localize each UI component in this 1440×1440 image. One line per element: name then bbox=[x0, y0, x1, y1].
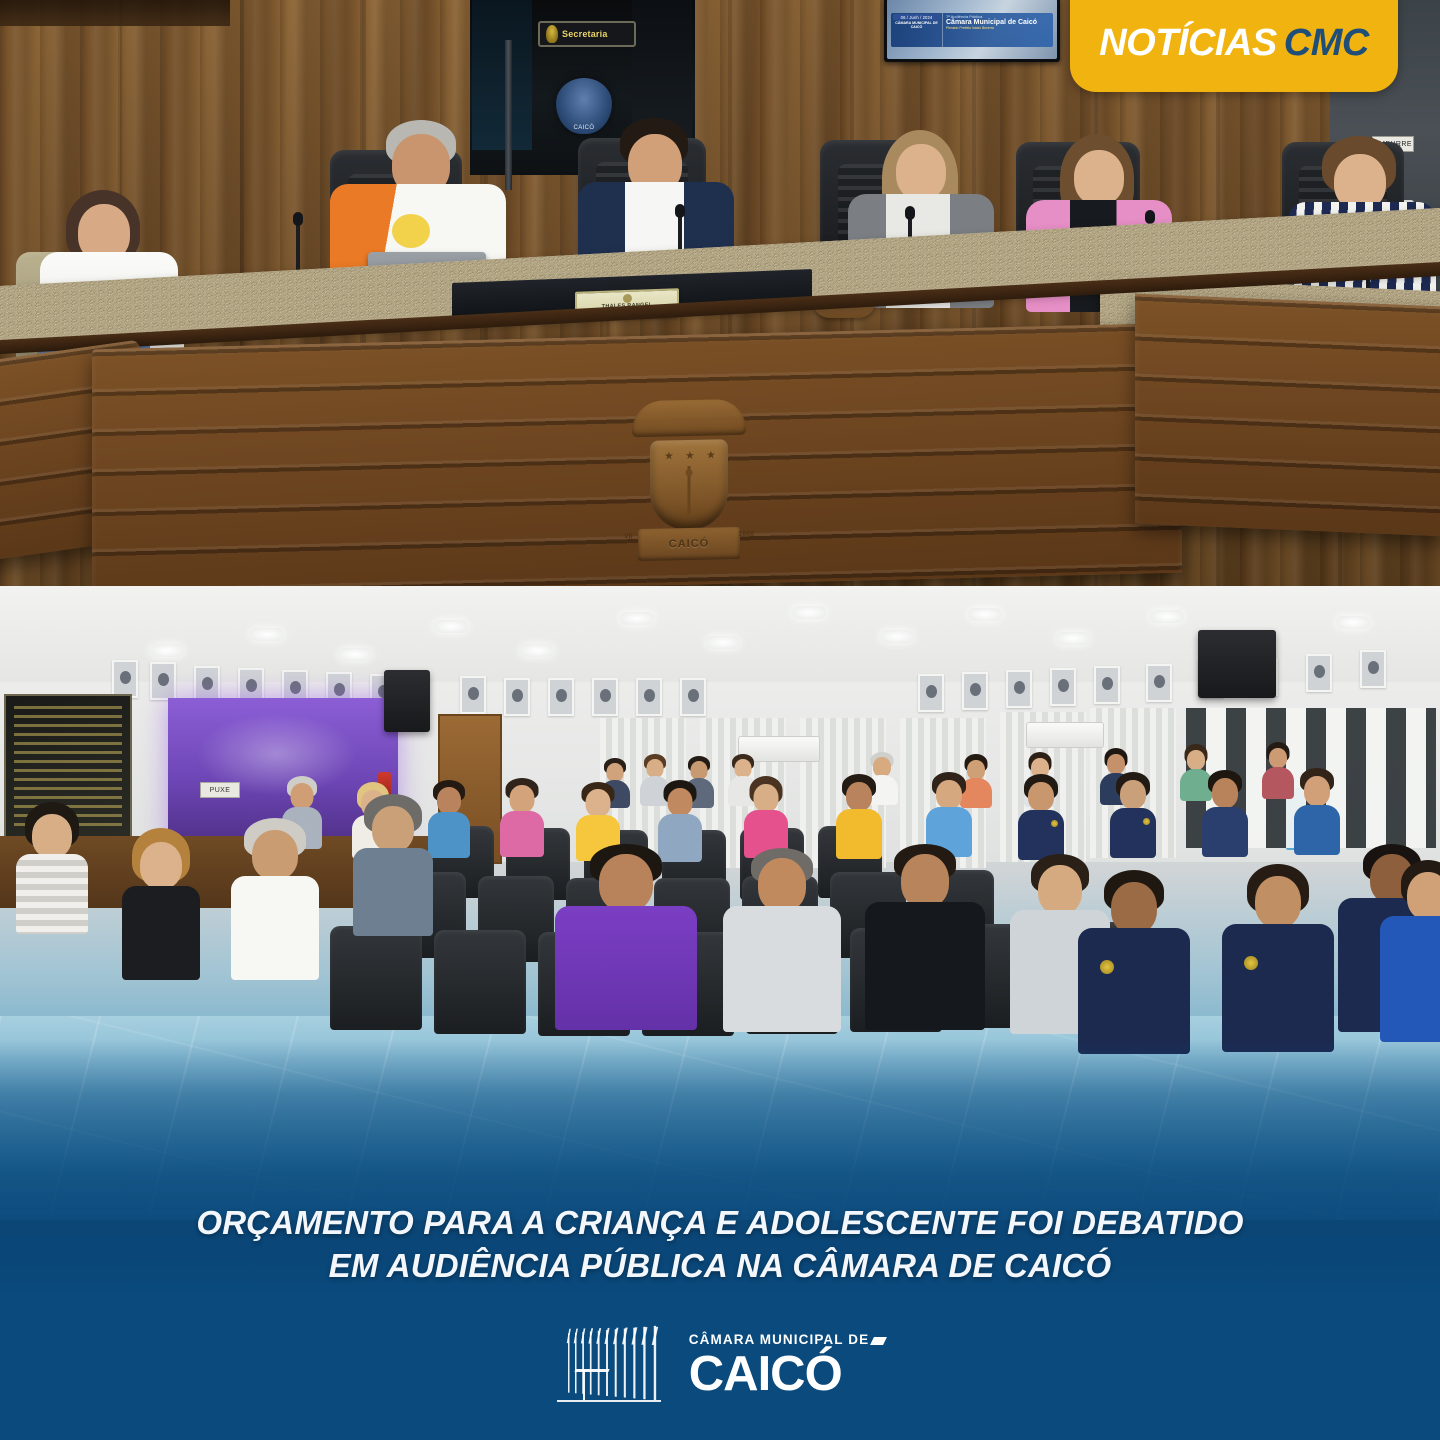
broadcast-date: 06 / Junh / 2024 bbox=[893, 14, 940, 20]
panelist-2-shirt-flower bbox=[392, 214, 430, 248]
attendee bbox=[1294, 768, 1340, 850]
attendee bbox=[926, 772, 972, 852]
headline-line-1: ORÇAMENTO PARA A CRIANÇA E ADOLESCENTE F… bbox=[90, 1202, 1350, 1245]
sign-crest-icon bbox=[546, 25, 558, 43]
portrait-frame bbox=[504, 678, 530, 716]
portrait-frame bbox=[680, 678, 706, 716]
attendee bbox=[16, 802, 88, 926]
attendee bbox=[1110, 772, 1156, 852]
portrait-frame bbox=[962, 672, 988, 710]
badge-word-noticias: NOTÍCIAS bbox=[1099, 22, 1277, 65]
crest-scroll: CAICÓ bbox=[638, 527, 740, 561]
broadcast-footer: Plenário Prefeito Inácio Bezerra bbox=[946, 26, 1050, 30]
headline-line-2: EM AUDIÊNCIA PÚBLICA NA CÂMARA DE CAICÓ bbox=[90, 1245, 1350, 1288]
portrait-frame bbox=[1006, 670, 1032, 708]
attendee bbox=[556, 844, 696, 1034]
dais-front-right bbox=[1135, 294, 1440, 537]
chamber-building-icon bbox=[555, 1322, 667, 1410]
attendee bbox=[500, 778, 544, 854]
portrait-frame bbox=[1050, 668, 1076, 706]
crest-year-right: 1868 bbox=[738, 531, 754, 538]
air-conditioner-2 bbox=[1026, 722, 1104, 748]
portrait-frame bbox=[592, 678, 618, 716]
attendee bbox=[1222, 864, 1334, 1048]
news-badge: NOTÍCIAS CMC bbox=[1070, 0, 1398, 92]
broadcast-title: Câmara Municipal de Caicó bbox=[946, 19, 1050, 26]
portrait-frame bbox=[112, 660, 138, 698]
attendee bbox=[1382, 860, 1440, 1040]
attendee bbox=[1078, 870, 1190, 1050]
broadcast-right-block: 7ª Audiência Pública Câmara Municipal de… bbox=[943, 13, 1053, 47]
attendee bbox=[354, 794, 432, 926]
footer-logo-pretitle: CÂMARA MUNICIPAL DE bbox=[689, 1333, 885, 1347]
portrait-frame bbox=[918, 674, 944, 712]
portrait-frame bbox=[548, 678, 574, 716]
portrait-frame bbox=[1146, 664, 1172, 702]
crest-crown bbox=[632, 399, 746, 437]
news-card: Secretaria 06 / Junh / 2024 CÂMARA MUNIC… bbox=[0, 0, 1440, 1440]
crest-tree-icon bbox=[678, 466, 700, 514]
attendee bbox=[1018, 774, 1064, 854]
crest-year-left: VII bbox=[624, 533, 633, 540]
attendee bbox=[1202, 770, 1248, 852]
secretaria-sign-label: Secretaria bbox=[562, 29, 608, 39]
badge-word-cmc: CMC bbox=[1284, 22, 1369, 65]
portrait-frame bbox=[1094, 666, 1120, 704]
footer-logo-title: CAICÓ bbox=[689, 1350, 885, 1399]
audience-chair bbox=[434, 930, 526, 1034]
attendee bbox=[428, 780, 470, 854]
portrait-frame bbox=[460, 676, 486, 714]
carved-coat-of-arms: ★ ★ ★ CAICÓ VII 1868 bbox=[626, 399, 752, 570]
puxe-sign: PUXE bbox=[200, 782, 240, 798]
portrait-frame bbox=[1306, 654, 1332, 692]
broadcast-organization: CÂMARA MUNICIPAL DE CAICÓ bbox=[893, 21, 940, 30]
ceiling-shadow-strip bbox=[0, 0, 230, 26]
crest-city-label: CAICÓ bbox=[669, 538, 709, 551]
attendee bbox=[744, 776, 788, 854]
portrait-frame bbox=[636, 678, 662, 716]
footer-logo: CÂMARA MUNICIPAL DE CAICÓ bbox=[0, 1322, 1440, 1410]
footer-logo-wordmark: CÂMARA MUNICIPAL DE CAICÓ bbox=[689, 1333, 885, 1399]
headline-caption: ORÇAMENTO PARA A CRIANÇA E ADOLESCENTE F… bbox=[0, 1202, 1440, 1288]
attendee bbox=[724, 848, 840, 1036]
nameplate-crest-icon bbox=[623, 294, 632, 303]
footer-logo-pretitle-text: CÂMARA MUNICIPAL DE bbox=[689, 1332, 869, 1347]
attendee bbox=[122, 828, 200, 968]
secretaria-sign: Secretaria bbox=[538, 21, 636, 47]
attendee bbox=[866, 844, 984, 1034]
ceiling-speaker-2 bbox=[1198, 630, 1276, 698]
portrait-frame bbox=[150, 662, 176, 700]
broadcast-left-block: 06 / Junh / 2024 CÂMARA MUNICIPAL DE CAI… bbox=[891, 13, 943, 47]
tv-screen: 06 / Junh / 2024 CÂMARA MUNICIPAL DE CAI… bbox=[887, 0, 1057, 59]
wall-television: 06 / Junh / 2024 CÂMARA MUNICIPAL DE CAI… bbox=[884, 0, 1060, 62]
ceiling-speaker-1 bbox=[384, 670, 430, 732]
attendee bbox=[836, 774, 882, 854]
broadcast-lower-third: 06 / Junh / 2024 CÂMARA MUNICIPAL DE CAI… bbox=[891, 13, 1053, 47]
portrait-frame bbox=[1360, 650, 1386, 688]
audience-chair bbox=[330, 926, 422, 1030]
attendee bbox=[1262, 742, 1294, 796]
attendee bbox=[232, 818, 318, 968]
